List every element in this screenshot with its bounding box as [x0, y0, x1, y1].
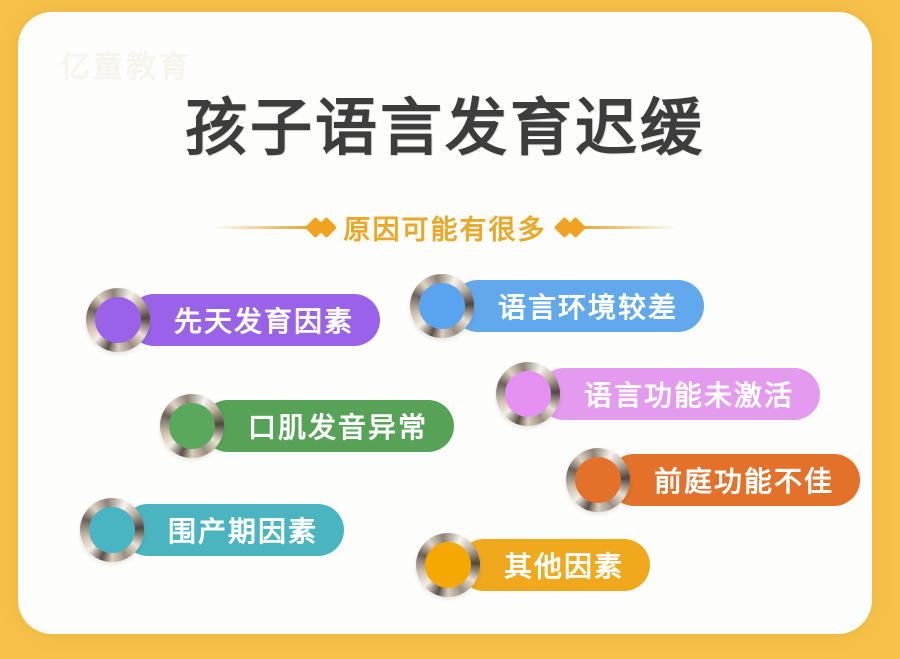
badge-core [419, 283, 465, 329]
page-subtitle: 原因可能有很多 [344, 208, 547, 247]
reason-label: 先天发育因素 [128, 294, 380, 346]
metallic-ring-icon [496, 362, 560, 426]
reason-label: 口肌发音异常 [202, 400, 454, 452]
reason-label: 语言环境较差 [452, 280, 704, 332]
reason-item[interactable]: 其他因素 [416, 539, 650, 591]
watermark-text: 亿童教育 [60, 42, 192, 86]
reason-label: 语言功能未激活 [538, 368, 820, 420]
badge-core [95, 297, 141, 343]
reason-item[interactable]: 语言功能未激活 [496, 368, 820, 420]
badge-core [575, 457, 621, 503]
metallic-ring-icon [160, 394, 224, 458]
reason-item[interactable]: 语言环境较差 [410, 280, 704, 332]
metallic-ring-icon [566, 448, 630, 512]
reason-label: 前庭功能不佳 [608, 454, 860, 506]
diamond-divider-right-icon [559, 220, 709, 235]
badge-core [505, 371, 551, 417]
diamond-divider-left-icon [182, 220, 332, 235]
metallic-ring-icon [410, 274, 474, 338]
poster-card: 亿童教育 孩子语言发育迟缓 原因可能有很多 [18, 12, 872, 634]
poster-frame: 亿童教育 孩子语言发育迟缓 原因可能有很多 [0, 0, 900, 659]
badge-core [89, 507, 135, 553]
reason-label: 围产期因素 [122, 504, 344, 556]
reason-item[interactable]: 口肌发音异常 [160, 400, 454, 452]
metallic-ring-icon [416, 533, 480, 597]
reason-item[interactable]: 前庭功能不佳 [566, 454, 860, 506]
reason-label: 其他因素 [458, 539, 650, 591]
reason-item[interactable]: 围产期因素 [80, 504, 344, 556]
badge-core [425, 542, 471, 588]
metallic-ring-icon [80, 498, 144, 562]
metallic-ring-icon [86, 288, 150, 352]
subtitle-row: 原因可能有很多 [18, 208, 872, 247]
reason-item[interactable]: 先天发育因素 [86, 294, 380, 346]
page-title: 孩子语言发育迟缓 [18, 90, 872, 168]
badge-core [169, 403, 215, 449]
